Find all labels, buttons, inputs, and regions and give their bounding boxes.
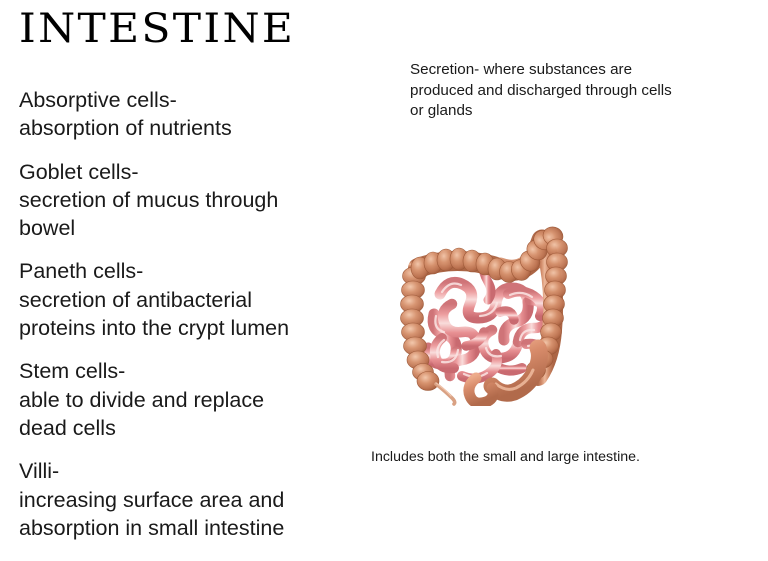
- page-title: INTESTINE: [19, 7, 295, 52]
- secretion-definition: Secretion- where substances are produced…: [410, 60, 720, 122]
- term-block-paneth-cells: Paneth cells- secretion of antibacterial…: [19, 257, 349, 342]
- intestine-svg: [396, 226, 572, 406]
- term-line: increasing surface area and: [19, 486, 349, 514]
- term-line: Absorptive cells-: [19, 86, 349, 114]
- term-line: absorption of nutrients: [19, 114, 349, 142]
- intestine-illustration: [396, 226, 572, 406]
- term-line: Villi-: [19, 457, 349, 485]
- term-line: dead cells: [19, 414, 349, 442]
- small-intestine-group: [428, 260, 547, 379]
- haustra-transverse: [411, 248, 506, 280]
- cecum: [417, 372, 439, 391]
- slide-canvas: INTESTINE Absorptive cells- absorption o…: [0, 0, 768, 561]
- term-block-stem-cells: Stem cells- able to divide and replace d…: [19, 357, 349, 442]
- right-text-column: Secretion- where substances are produced…: [410, 60, 720, 122]
- term-line: produced and discharged through cells: [410, 81, 720, 102]
- term-line: or glands: [410, 101, 720, 122]
- term-line: absorption in small intestine: [19, 514, 349, 542]
- term-block-goblet-cells: Goblet cells- secretion of mucus through…: [19, 158, 349, 243]
- term-line: proteins into the crypt lumen: [19, 314, 349, 342]
- term-line: Goblet cells-: [19, 158, 349, 186]
- figure-caption: Includes both the small and large intest…: [371, 448, 711, 467]
- term-line: Secretion- where substances are: [410, 60, 720, 81]
- term-line: able to divide and replace: [19, 386, 349, 414]
- term-block-absorptive-cells: Absorptive cells- absorption of nutrient…: [19, 86, 349, 143]
- term-block-villi: Villi- increasing surface area and absor…: [19, 457, 349, 542]
- appendix: [436, 384, 455, 404]
- term-line: Stem cells-: [19, 357, 349, 385]
- term-line: bowel: [19, 214, 349, 242]
- term-line: Paneth cells-: [19, 257, 349, 285]
- term-line: secretion of mucus through: [19, 186, 349, 214]
- term-line: secretion of antibacterial: [19, 286, 349, 314]
- left-text-column: Absorptive cells- absorption of nutrient…: [19, 86, 349, 542]
